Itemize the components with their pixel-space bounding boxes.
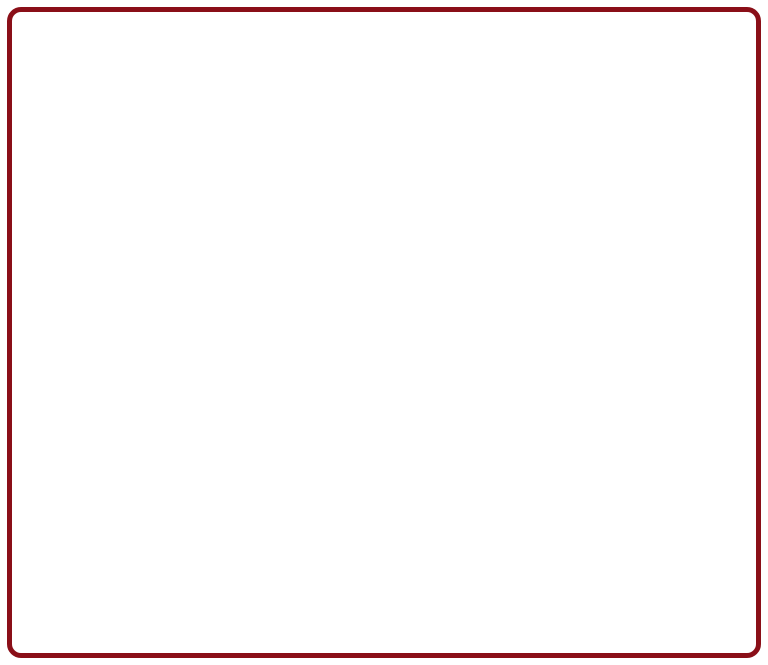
label-string: String	[521, 226, 567, 245]
page-title-text: Potentiometer	[285, 25, 483, 63]
label-potentiometer: Potentiometer	[588, 342, 689, 360]
watermark-url: www.TheEngineeringProject.com	[52, 622, 258, 639]
string-graphic	[258, 145, 531, 231]
page-title: Potentiometer	[0, 25, 768, 58]
diagram-canvas: Potentiometer Direction of linear motion…	[0, 0, 768, 665]
label-threaded-drum: Threaded Drum	[140, 578, 258, 597]
label-wiper: Wiper	[545, 592, 589, 611]
label-terminals: Terminals	[583, 381, 653, 399]
label-resistive-strip: Resistive strip	[638, 548, 741, 566]
label-direction-of-linear-motion: Direction of linear motion	[176, 104, 336, 142]
label-coil-spring: Coil Spring	[548, 299, 633, 318]
label-direction-of-rotation: Direction of Rotation	[43, 216, 201, 235]
threaded-drum-graphic	[157, 222, 353, 572]
